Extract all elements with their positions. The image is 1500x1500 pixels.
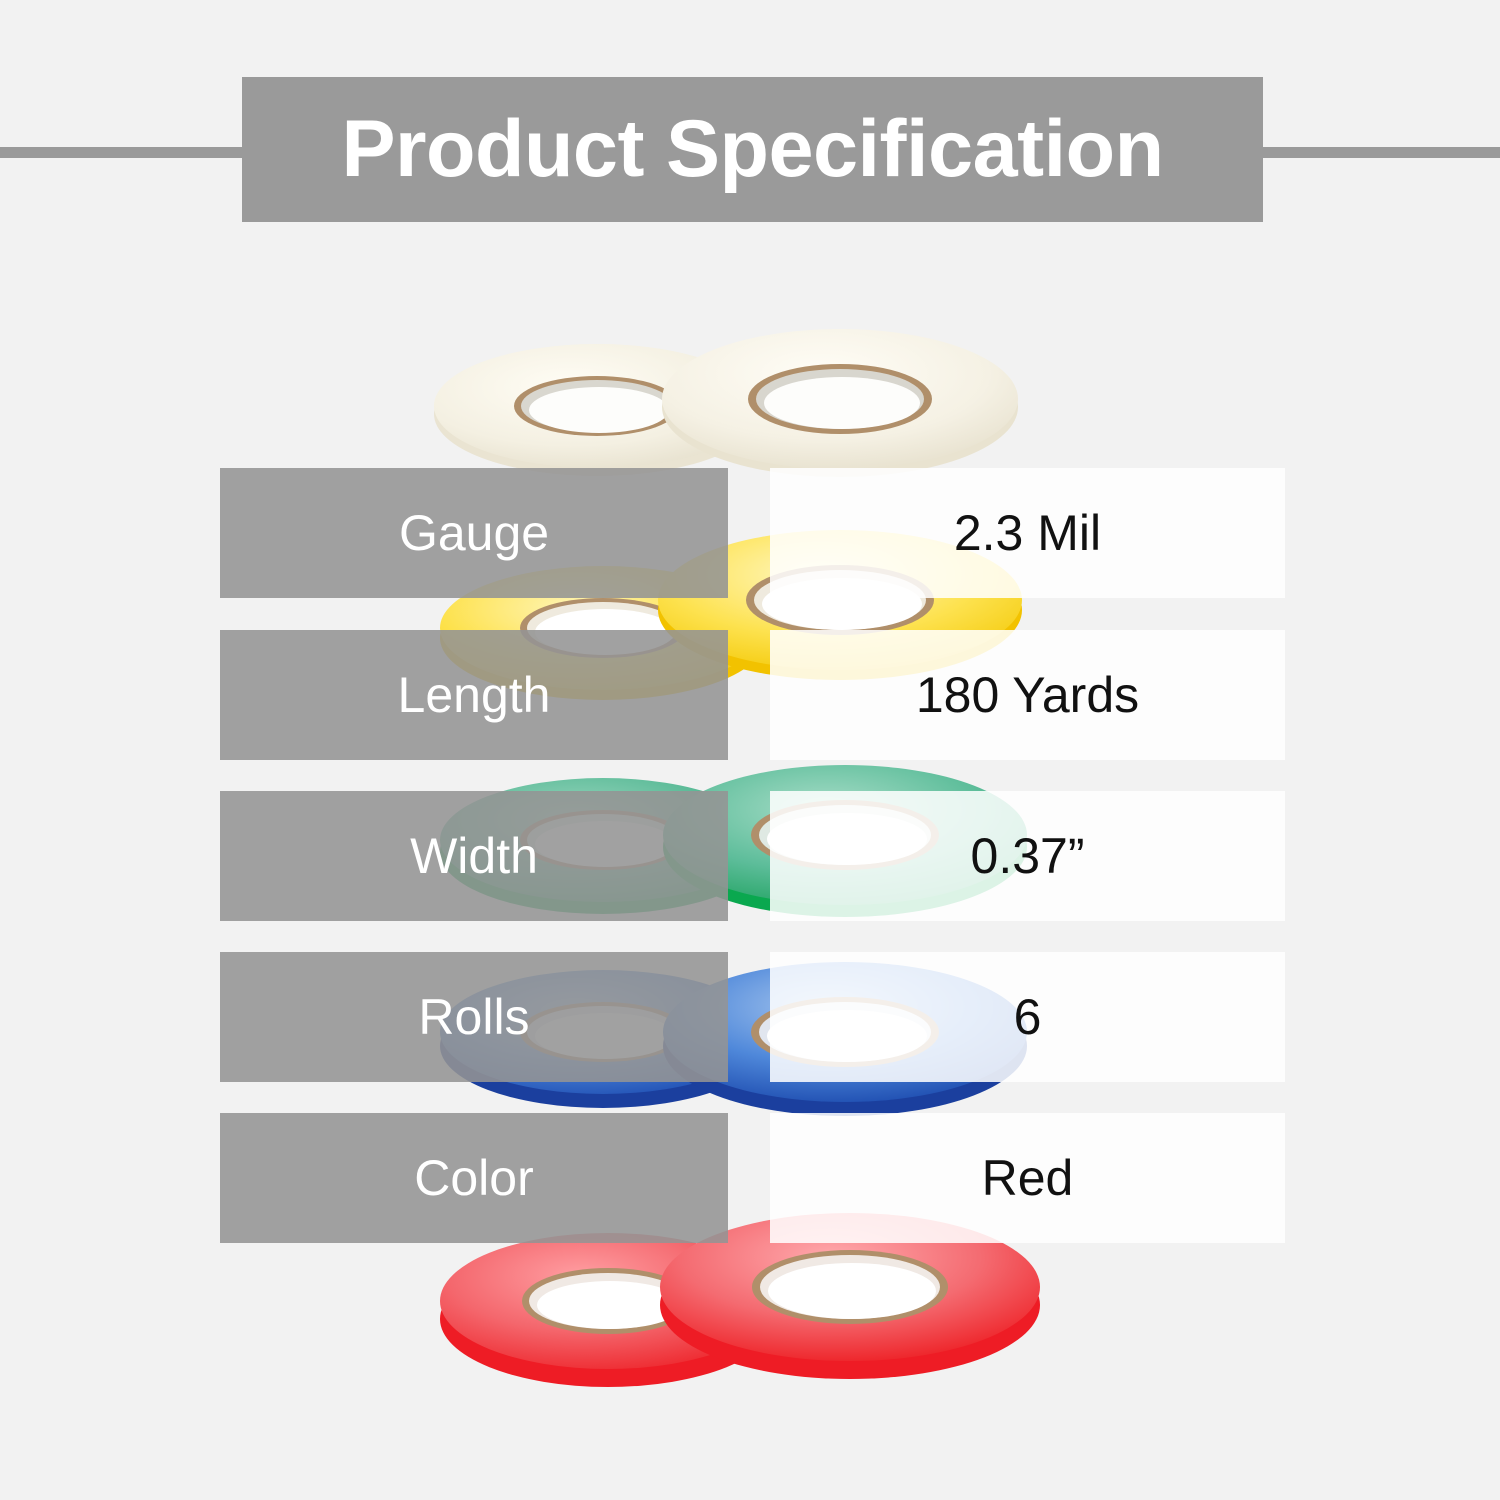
spec-label: Rolls: [418, 992, 529, 1042]
spec-value-panel: 2.3 Mil: [770, 468, 1285, 598]
spec-label-panel: Color: [220, 1113, 728, 1243]
spec-label: Length: [398, 670, 551, 720]
spec-value-panel: Red: [770, 1113, 1285, 1243]
table-row: Color Red: [220, 1113, 1285, 1243]
spec-value: 2.3 Mil: [954, 508, 1101, 558]
page-title: Product Specification: [341, 109, 1163, 190]
spec-value-panel: 6: [770, 952, 1285, 1082]
table-row: Length 180 Yards: [220, 630, 1285, 760]
table-row: Gauge 2.3 Mil: [220, 468, 1285, 598]
spec-value: Red: [982, 1153, 1074, 1203]
spec-label: Gauge: [399, 508, 549, 558]
spec-value-panel: 180 Yards: [770, 630, 1285, 760]
title-banner: Product Specification: [242, 77, 1263, 222]
spec-label: Color: [414, 1153, 533, 1203]
table-row: Width 0.37”: [220, 791, 1285, 921]
spec-value: 180 Yards: [916, 670, 1139, 720]
spec-label-panel: Rolls: [220, 952, 728, 1082]
spec-label: Width: [410, 831, 538, 881]
spec-label-panel: Length: [220, 630, 728, 760]
spec-value: 6: [1014, 992, 1042, 1042]
spec-label-panel: Width: [220, 791, 728, 921]
header: Product Specification: [0, 0, 1500, 240]
spec-label-panel: Gauge: [220, 468, 728, 598]
spec-value: 0.37”: [971, 831, 1085, 881]
table-row: Rolls 6: [220, 952, 1285, 1082]
spec-value-panel: 0.37”: [770, 791, 1285, 921]
